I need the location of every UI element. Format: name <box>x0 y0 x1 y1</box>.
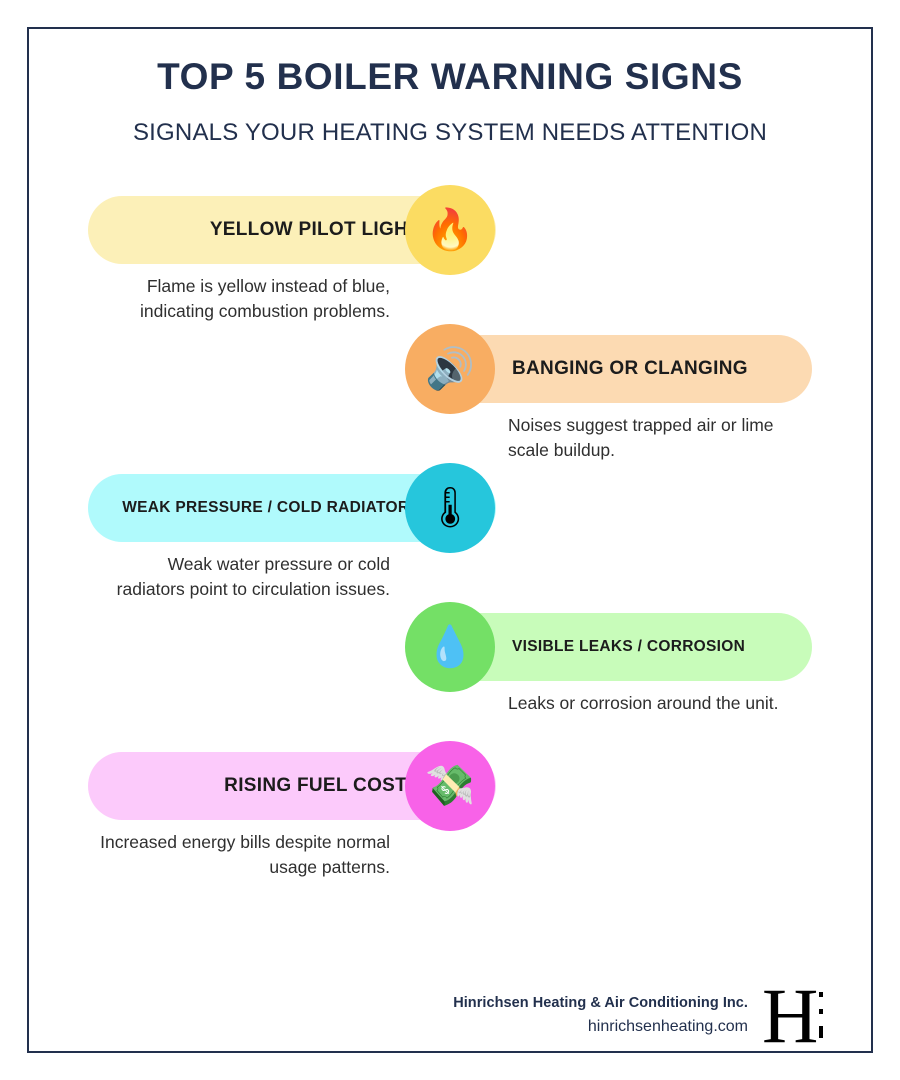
poster-header: TOP 5 BOILER WARNING SIGNS SIGNALS YOUR … <box>40 55 860 147</box>
logo-mark-2 <box>819 1009 823 1014</box>
logo-side-marks <box>819 992 829 1038</box>
fire-icon: 🔥 <box>405 185 495 275</box>
money-with-wings-icon: 💸 <box>405 741 495 831</box>
warning-sign-pill[interactable]: BANGING OR CLANGING <box>446 335 812 403</box>
warning-sign-row: VISIBLE LEAKS / CORROSION💧Leaks or corro… <box>0 613 900 752</box>
warning-sign-list: YELLOW PILOT LIGHT🔥Flame is yellow inste… <box>0 196 900 891</box>
page-title: TOP 5 BOILER WARNING SIGNS <box>40 55 860 99</box>
warning-sign-row: BANGING OR CLANGING🔊Noises suggest trapp… <box>0 335 900 474</box>
warning-sign-row: WEAK PRESSURE / COLD RADIATORS🌡Weak wate… <box>0 474 900 613</box>
warning-sign-description: Increased energy bills despite normal us… <box>98 830 390 880</box>
page-subtitle: SIGNALS YOUR HEATING SYSTEM NEEDS ATTENT… <box>40 119 860 148</box>
footer-company-name: Hinrichsen Heating & Air Conditioning In… <box>453 993 748 1015</box>
warning-sign-description: Noises suggest trapped air or lime scale… <box>508 413 800 463</box>
water-drop-icon: 💧 <box>405 602 495 692</box>
logo-mark-3 <box>819 1026 823 1038</box>
warning-sign-row: YELLOW PILOT LIGHT🔥Flame is yellow inste… <box>0 196 900 335</box>
logo-letter-h: H <box>762 984 818 1048</box>
footer-website[interactable]: hinrichsenheating.com <box>453 1015 748 1039</box>
company-logo: H <box>762 978 840 1054</box>
warning-sign-label: WEAK PRESSURE / COLD RADIATORS <box>122 499 420 517</box>
warning-sign-description: Leaks or corrosion around the unit. <box>508 691 800 716</box>
warning-sign-label: BANGING OR CLANGING <box>512 358 748 380</box>
footer: Hinrichsen Heating & Air Conditioning In… <box>380 978 840 1054</box>
loudspeaker-icon: 🔊 <box>405 324 495 414</box>
warning-sign-row: RISING FUEL COSTS💸Increased energy bills… <box>0 752 900 891</box>
warning-sign-label: VISIBLE LEAKS / CORROSION <box>512 638 745 656</box>
logo-mark-1 <box>819 992 823 997</box>
warning-sign-label: RISING FUEL COSTS <box>224 775 420 797</box>
warning-sign-description: Flame is yellow instead of blue, indicat… <box>98 274 390 324</box>
infographic-poster: TOP 5 BOILER WARNING SIGNS SIGNALS YOUR … <box>0 0 900 1080</box>
warning-sign-pill[interactable]: VISIBLE LEAKS / CORROSION <box>446 613 812 681</box>
thermometer-icon: 🌡 <box>405 463 495 553</box>
warning-sign-description: Weak water pressure or cold radiators po… <box>98 552 390 602</box>
footer-text-block: Hinrichsen Heating & Air Conditioning In… <box>453 993 762 1039</box>
warning-sign-label: YELLOW PILOT LIGHT <box>210 219 420 241</box>
